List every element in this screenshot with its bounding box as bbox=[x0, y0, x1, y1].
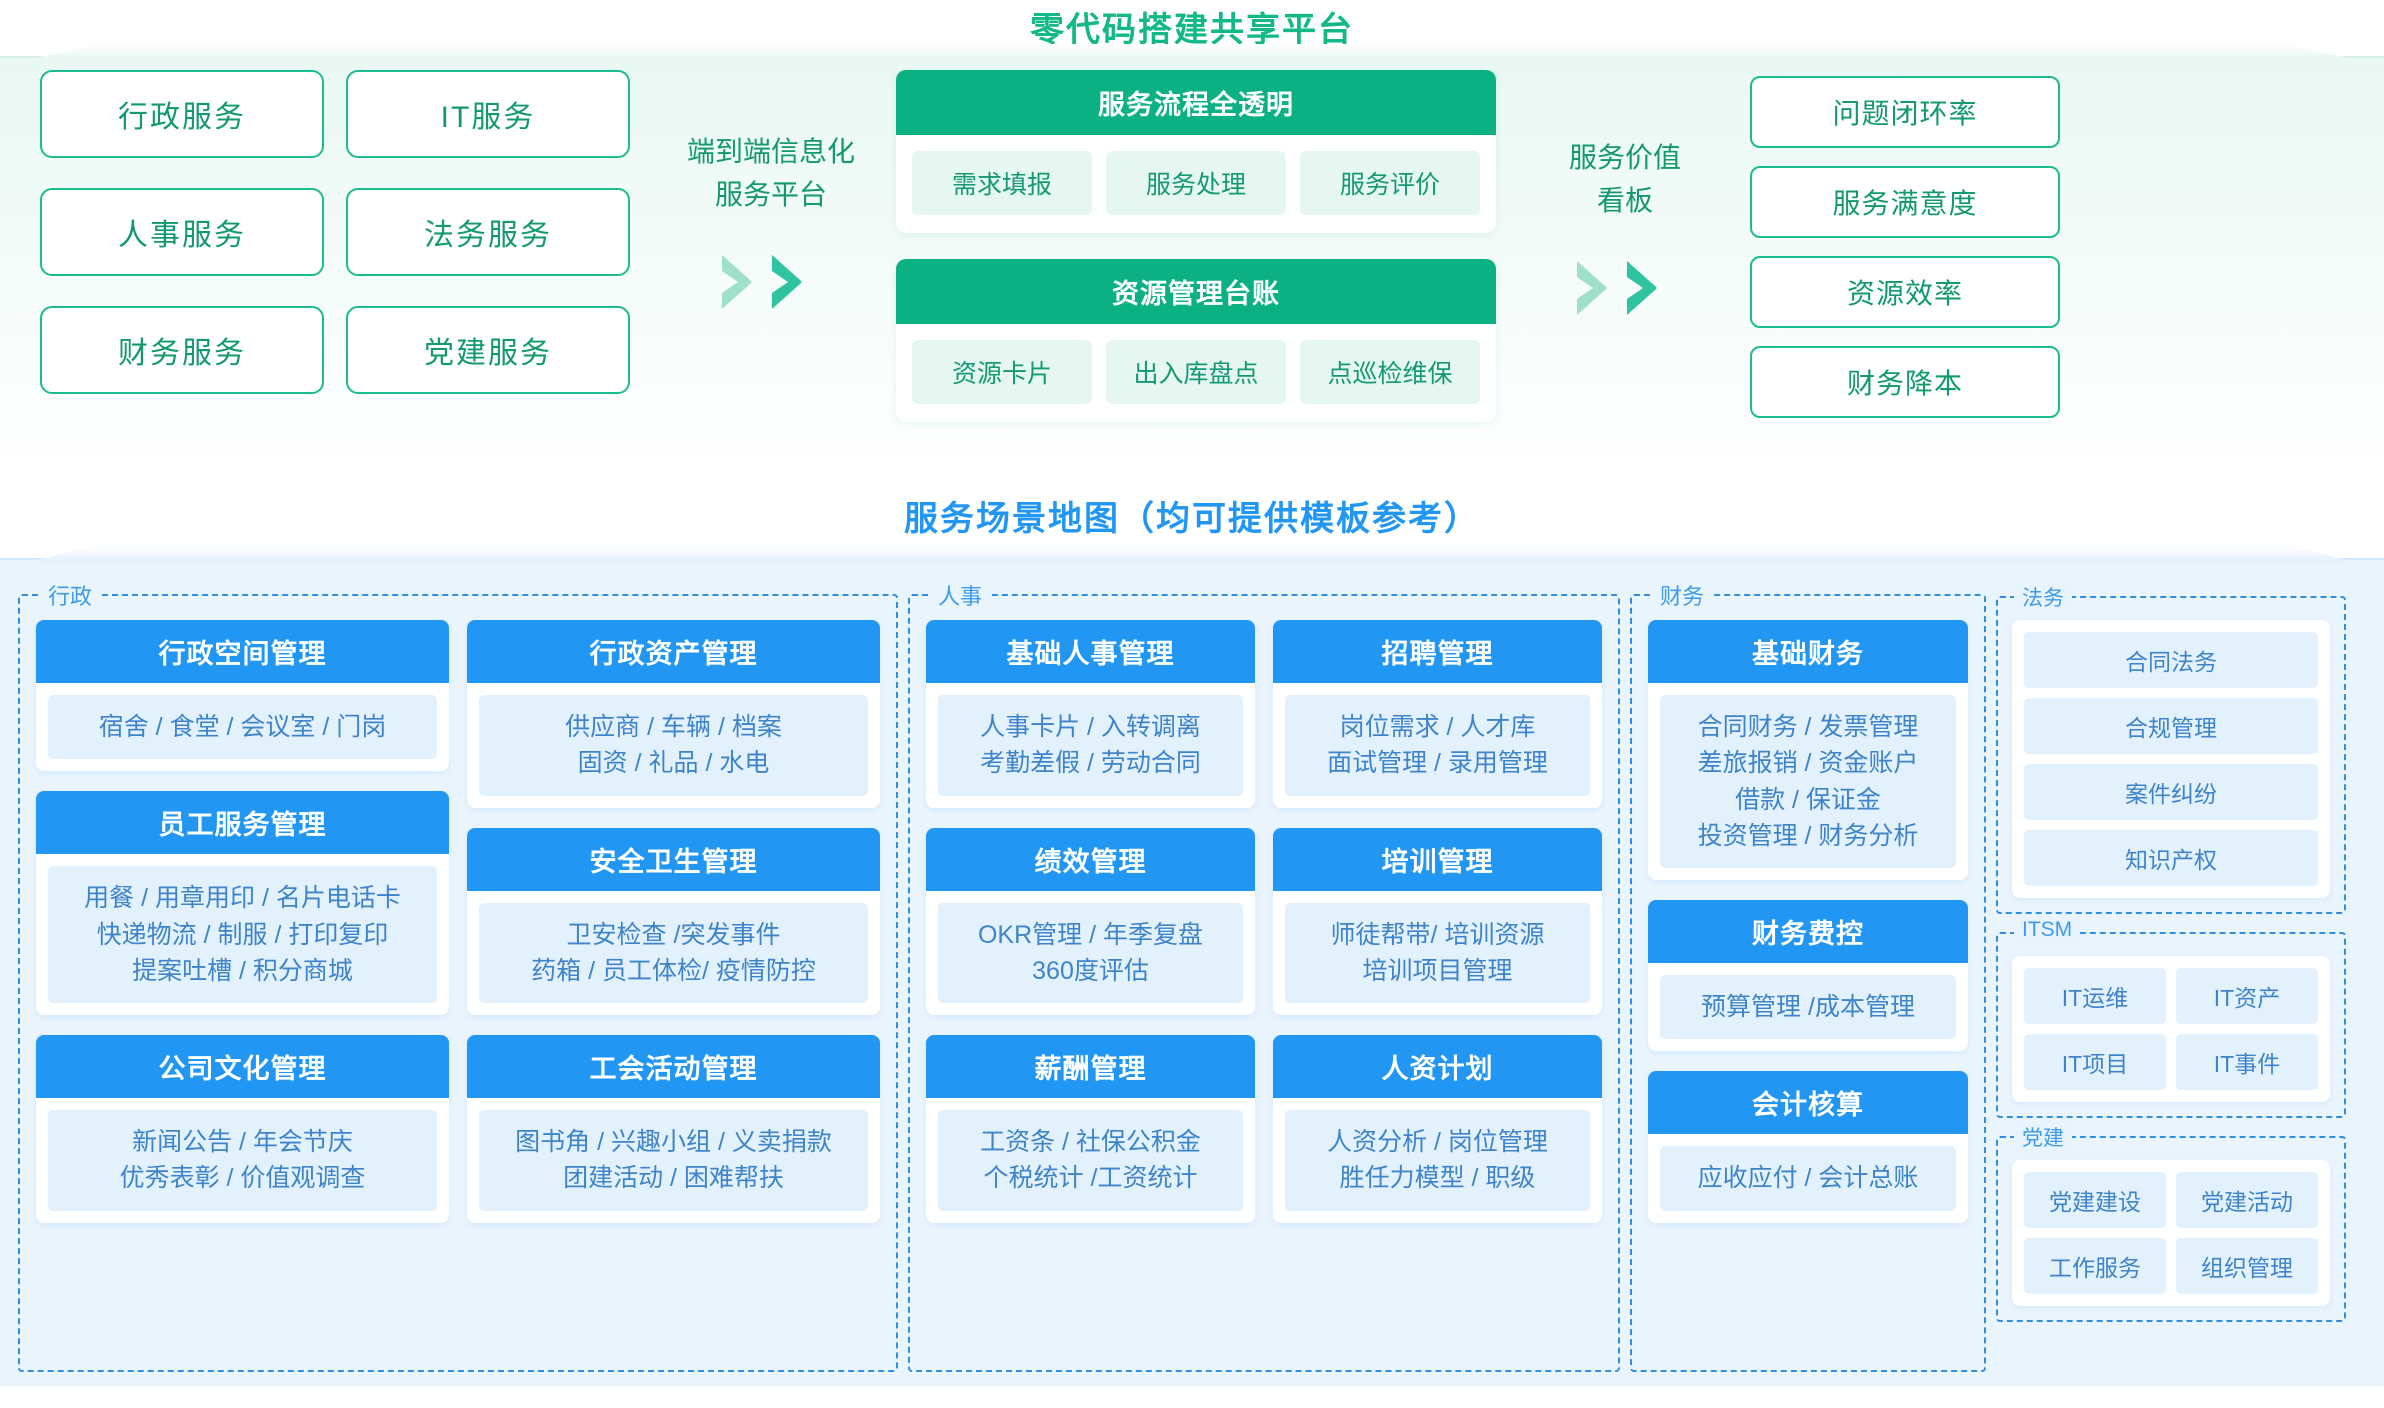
card-items: 师徒帮带/ 培训资源 培训项目管理 bbox=[1285, 903, 1590, 1004]
green-card-title: 服务流程全透明 bbox=[896, 70, 1496, 135]
card-items: 工资条 / 社保公积金 个税统计 /工资统计 bbox=[938, 1110, 1243, 1211]
green-card-chips: 需求填报 服务处理 服务评价 bbox=[896, 135, 1496, 233]
card-title: 工会活动管理 bbox=[467, 1035, 880, 1098]
card-title: 行政空间管理 bbox=[36, 620, 449, 683]
party-chip-grid: 党建建设 党建活动 工作服务 组织管理 bbox=[2024, 1172, 2318, 1294]
group-right-column: 法务 合同法务 合规管理 案件纠纷 知识产权 ITSM IT运维 IT资产 IT… bbox=[1996, 578, 2346, 1372]
admin-columns: 行政空间管理 宿舍 / 食堂 / 会议室 / 门岗 员工服务管理 用餐 / 用章… bbox=[36, 620, 880, 1354]
legal-chip-ip[interactable]: 知识产权 bbox=[2024, 830, 2318, 886]
card-body: 应收应付 / 会计总账 bbox=[1648, 1134, 1968, 1222]
card-itsm: IT运维 IT资产 IT项目 IT事件 bbox=[2012, 956, 2330, 1102]
card-items: 图书角 / 兴趣小组 / 义卖捐款 团建活动 / 困难帮扶 bbox=[479, 1110, 868, 1211]
itsm-chip-incident[interactable]: IT事件 bbox=[2176, 1034, 2318, 1090]
party-chip-construction[interactable]: 党建建设 bbox=[2024, 1172, 2166, 1228]
admin-column-2: 行政资产管理 供应商 / 车辆 / 档案 固资 / 礼品 / 水电 安全卫生管理… bbox=[467, 620, 880, 1354]
card-title: 培训管理 bbox=[1273, 828, 1602, 891]
card-compensation: 薪酬管理 工资条 / 社保公积金 个税统计 /工资统计 bbox=[926, 1035, 1255, 1223]
green-chip[interactable]: 资源卡片 bbox=[912, 340, 1092, 404]
card-items: 合同财务 / 发票管理 差旅报销 / 资金账户 借款 / 保证金 投资管理 / … bbox=[1660, 695, 1956, 868]
card-party: 党建建设 党建活动 工作服务 组织管理 bbox=[2012, 1160, 2330, 1306]
card-title: 公司文化管理 bbox=[36, 1035, 449, 1098]
itsm-chip-project[interactable]: IT项目 bbox=[2024, 1034, 2166, 1090]
service-button-party[interactable]: 党建服务 bbox=[346, 306, 630, 394]
card-accounting: 会计核算 应收应付 / 会计总账 bbox=[1648, 1071, 1968, 1222]
group-itsm: ITSM IT运维 IT资产 IT项目 IT事件 bbox=[1996, 932, 2346, 1118]
platform-label-line-2: 服务平台 bbox=[646, 173, 896, 216]
itsm-chip-asset[interactable]: IT资产 bbox=[2176, 968, 2318, 1024]
group-finance: 财务 基础财务 合同财务 / 发票管理 差旅报销 / 资金账户 借款 / 保证金… bbox=[1630, 594, 1986, 1372]
group-label-finance: 财务 bbox=[1650, 579, 1714, 611]
card-items: 应收应付 / 会计总账 bbox=[1660, 1146, 1956, 1210]
kpi-service-satisfaction[interactable]: 服务满意度 bbox=[1750, 166, 2060, 238]
card-items: OKR管理 / 年季复盘 360度评估 bbox=[938, 903, 1243, 1004]
card-items: 卫安检查 /突发事件 药箱 / 员工体检/ 疫情防控 bbox=[479, 903, 868, 1004]
card-body: 师徒帮带/ 培训资源 培训项目管理 bbox=[1273, 891, 1602, 1016]
card-title: 行政资产管理 bbox=[467, 620, 880, 683]
platform-label-line-1: 端到端信息化 bbox=[646, 130, 896, 173]
kpi-issue-closure-rate[interactable]: 问题闭环率 bbox=[1750, 76, 2060, 148]
service-button-legal[interactable]: 法务服务 bbox=[346, 188, 630, 276]
group-party: 党建 党建建设 党建活动 工作服务 组织管理 bbox=[1996, 1136, 2346, 1322]
card-body: 人事卡片 / 入转调离 考勤差假 / 劳动合同 bbox=[926, 683, 1255, 808]
card-body: 工资条 / 社保公积金 个税统计 /工资统计 bbox=[926, 1098, 1255, 1223]
double-chevron-right-icon bbox=[630, 251, 896, 313]
top-panel: 行政服务 IT服务 人事服务 法务服务 财务服务 党建服务 端到端信息化 服务平… bbox=[0, 56, 2384, 476]
group-label-party: 党建 bbox=[2014, 1122, 2072, 1152]
card-body: 卫安检查 /突发事件 药箱 / 员工体检/ 疫情防控 bbox=[467, 891, 880, 1016]
group-label-legal: 法务 bbox=[2014, 582, 2072, 612]
card-recruitment: 招聘管理 岗位需求 / 人才库 面试管理 / 录用管理 bbox=[1273, 620, 1602, 808]
card-basic-hr: 基础人事管理 人事卡片 / 入转调离 考勤差假 / 劳动合同 bbox=[926, 620, 1255, 808]
card-title: 安全卫生管理 bbox=[467, 828, 880, 891]
green-card-process: 服务流程全透明 需求填报 服务处理 服务评价 bbox=[896, 70, 1496, 233]
green-chip[interactable]: 服务处理 bbox=[1106, 151, 1286, 215]
card-items: 供应商 / 车辆 / 档案 固资 / 礼品 / 水电 bbox=[479, 695, 868, 796]
green-chip[interactable]: 服务评价 bbox=[1300, 151, 1480, 215]
card-body: 新闻公告 / 年会节庆 优秀表彰 / 价值观调查 bbox=[36, 1098, 449, 1223]
group-legal: 法务 合同法务 合规管理 案件纠纷 知识产权 bbox=[1996, 596, 2346, 914]
card-admin-space: 行政空间管理 宿舍 / 食堂 / 会议室 / 门岗 bbox=[36, 620, 449, 771]
service-button-hr[interactable]: 人事服务 bbox=[40, 188, 324, 276]
card-body: 宿舍 / 食堂 / 会议室 / 门岗 bbox=[36, 683, 449, 771]
legal-chip-compliance[interactable]: 合规管理 bbox=[2024, 698, 2318, 754]
legal-chip-dispute[interactable]: 案件纠纷 bbox=[2024, 764, 2318, 820]
card-items: 人事卡片 / 入转调离 考勤差假 / 劳动合同 bbox=[938, 695, 1243, 796]
green-chip[interactable]: 需求填报 bbox=[912, 151, 1092, 215]
map-section-title: 服务场景地图（均可提供模板参考） bbox=[0, 476, 2384, 558]
group-label-itsm: ITSM bbox=[2014, 918, 2080, 942]
card-body: 岗位需求 / 人才库 面试管理 / 录用管理 bbox=[1273, 683, 1602, 808]
card-body: 人资分析 / 岗位管理 胜任力模型 / 职级 bbox=[1273, 1098, 1602, 1223]
service-button-finance[interactable]: 财务服务 bbox=[40, 306, 324, 394]
card-title: 招聘管理 bbox=[1273, 620, 1602, 683]
card-title: 人资计划 bbox=[1273, 1035, 1602, 1098]
service-button-grid: 行政服务 IT服务 人事服务 法务服务 财务服务 党建服务 bbox=[40, 70, 630, 394]
card-body: OKR管理 / 年季复盘 360度评估 bbox=[926, 891, 1255, 1016]
card-body: 用餐 / 用章用印 / 名片电话卡 快递物流 / 制服 / 打印复印 提案吐槽 … bbox=[36, 854, 449, 1015]
card-items: 用餐 / 用章用印 / 名片电话卡 快递物流 / 制服 / 打印复印 提案吐槽 … bbox=[48, 866, 437, 1003]
legal-chip-contract[interactable]: 合同法务 bbox=[2024, 632, 2318, 688]
group-label-admin: 行政 bbox=[38, 579, 102, 611]
finance-column: 基础财务 合同财务 / 发票管理 差旅报销 / 资金账户 借款 / 保证金 投资… bbox=[1648, 620, 1968, 1223]
card-title: 绩效管理 bbox=[926, 828, 1255, 891]
card-items: 人资分析 / 岗位管理 胜任力模型 / 职级 bbox=[1285, 1110, 1590, 1211]
card-company-culture: 公司文化管理 新闻公告 / 年会节庆 优秀表彰 / 价值观调查 bbox=[36, 1035, 449, 1223]
value-board-label: 服务价值 看板 bbox=[1510, 136, 1740, 223]
green-card-stack: 服务流程全透明 需求填报 服务处理 服务评价 资源管理台账 资源卡片 出入库盘点… bbox=[896, 70, 1496, 422]
platform-label: 端到端信息化 服务平台 bbox=[646, 130, 896, 217]
party-chip-work-service[interactable]: 工作服务 bbox=[2024, 1238, 2166, 1294]
kpi-resource-efficiency[interactable]: 资源效率 bbox=[1750, 256, 2060, 328]
card-body: 预算管理 /成本管理 bbox=[1648, 963, 1968, 1051]
green-card-chips: 资源卡片 出入库盘点 点巡检维保 bbox=[896, 324, 1496, 422]
value-label-line-2: 看板 bbox=[1510, 179, 1740, 222]
group-hr: 人事 基础人事管理 人事卡片 / 入转调离 考勤差假 / 劳动合同 绩效管理 O… bbox=[908, 594, 1620, 1372]
service-button-admin[interactable]: 行政服务 bbox=[40, 70, 324, 158]
double-chevron-right-icon bbox=[1496, 257, 1740, 319]
service-button-it[interactable]: IT服务 bbox=[346, 70, 630, 158]
card-items: 岗位需求 / 人才库 面试管理 / 录用管理 bbox=[1285, 695, 1590, 796]
green-card-title: 资源管理台账 bbox=[896, 259, 1496, 324]
kpi-cost-reduction[interactable]: 财务降本 bbox=[1750, 346, 2060, 418]
card-performance: 绩效管理 OKR管理 / 年季复盘 360度评估 bbox=[926, 828, 1255, 1016]
card-items: 宿舍 / 食堂 / 会议室 / 门岗 bbox=[48, 695, 437, 759]
card-body: 供应商 / 车辆 / 档案 固资 / 礼品 / 水电 bbox=[467, 683, 880, 808]
platform-label-block: 端到端信息化 服务平台 bbox=[630, 58, 896, 313]
card-title: 员工服务管理 bbox=[36, 791, 449, 854]
green-chip[interactable]: 点巡检维保 bbox=[1300, 340, 1480, 404]
scenario-map-panel: 行政 行政空间管理 宿舍 / 食堂 / 会议室 / 门岗 员工服务管理 用餐 /… bbox=[0, 558, 2384, 1386]
value-label-line-1: 服务价值 bbox=[1510, 136, 1740, 179]
card-legal: 合同法务 合规管理 案件纠纷 知识产权 bbox=[2012, 620, 2330, 898]
card-title: 基础财务 bbox=[1648, 620, 1968, 683]
green-card-resource: 资源管理台账 资源卡片 出入库盘点 点巡检维保 bbox=[896, 259, 1496, 422]
itsm-chip-ops[interactable]: IT运维 bbox=[2024, 968, 2166, 1024]
hr-column-2: 招聘管理 岗位需求 / 人才库 面试管理 / 录用管理 培训管理 师徒帮带/ 培… bbox=[1273, 620, 1602, 1354]
card-items: 新闻公告 / 年会节庆 优秀表彰 / 价值观调查 bbox=[48, 1110, 437, 1211]
card-safety-hygiene: 安全卫生管理 卫安检查 /突发事件 药箱 / 员工体检/ 疫情防控 bbox=[467, 828, 880, 1016]
admin-column-1: 行政空间管理 宿舍 / 食堂 / 会议室 / 门岗 员工服务管理 用餐 / 用章… bbox=[36, 620, 449, 1354]
card-items: 预算管理 /成本管理 bbox=[1660, 975, 1956, 1039]
value-label-block: 服务价值 看板 bbox=[1496, 58, 1740, 319]
card-employee-service: 员工服务管理 用餐 / 用章用印 / 名片电话卡 快递物流 / 制服 / 打印复… bbox=[36, 791, 449, 1015]
card-union-activity: 工会活动管理 图书角 / 兴趣小组 / 义卖捐款 团建活动 / 困难帮扶 bbox=[467, 1035, 880, 1223]
card-title: 财务费控 bbox=[1648, 900, 1968, 963]
party-chip-activity[interactable]: 党建活动 bbox=[2176, 1172, 2318, 1228]
itsm-chip-grid: IT运维 IT资产 IT项目 IT事件 bbox=[2024, 968, 2318, 1090]
green-chip[interactable]: 出入库盘点 bbox=[1106, 340, 1286, 404]
infographic-page: 零代码搭建共享平台 行政服务 IT服务 人事服务 法务服务 财务服务 党建服务 … bbox=[0, 0, 2384, 1408]
kpi-list: 问题闭环率 服务满意度 资源效率 财务降本 bbox=[1750, 76, 2060, 418]
card-expense-control: 财务费控 预算管理 /成本管理 bbox=[1648, 900, 1968, 1051]
card-body: 合同财务 / 发票管理 差旅报销 / 资金账户 借款 / 保证金 投资管理 / … bbox=[1648, 683, 1968, 880]
card-basic-finance: 基础财务 合同财务 / 发票管理 差旅报销 / 资金账户 借款 / 保证金 投资… bbox=[1648, 620, 1968, 880]
card-title: 会计核算 bbox=[1648, 1071, 1968, 1134]
group-label-hr: 人事 bbox=[928, 579, 992, 611]
card-hr-planning: 人资计划 人资分析 / 岗位管理 胜任力模型 / 职级 bbox=[1273, 1035, 1602, 1223]
hr-column-1: 基础人事管理 人事卡片 / 入转调离 考勤差假 / 劳动合同 绩效管理 OKR管… bbox=[926, 620, 1255, 1354]
group-admin: 行政 行政空间管理 宿舍 / 食堂 / 会议室 / 门岗 员工服务管理 用餐 /… bbox=[18, 594, 898, 1372]
card-title: 薪酬管理 bbox=[926, 1035, 1255, 1098]
party-chip-organization[interactable]: 组织管理 bbox=[2176, 1238, 2318, 1294]
hr-columns: 基础人事管理 人事卡片 / 入转调离 考勤差假 / 劳动合同 绩效管理 OKR管… bbox=[926, 620, 1602, 1354]
card-body: 图书角 / 兴趣小组 / 义卖捐款 团建活动 / 困难帮扶 bbox=[467, 1098, 880, 1223]
card-title: 基础人事管理 bbox=[926, 620, 1255, 683]
card-training: 培训管理 师徒帮带/ 培训资源 培训项目管理 bbox=[1273, 828, 1602, 1016]
card-admin-asset: 行政资产管理 供应商 / 车辆 / 档案 固资 / 礼品 / 水电 bbox=[467, 620, 880, 808]
